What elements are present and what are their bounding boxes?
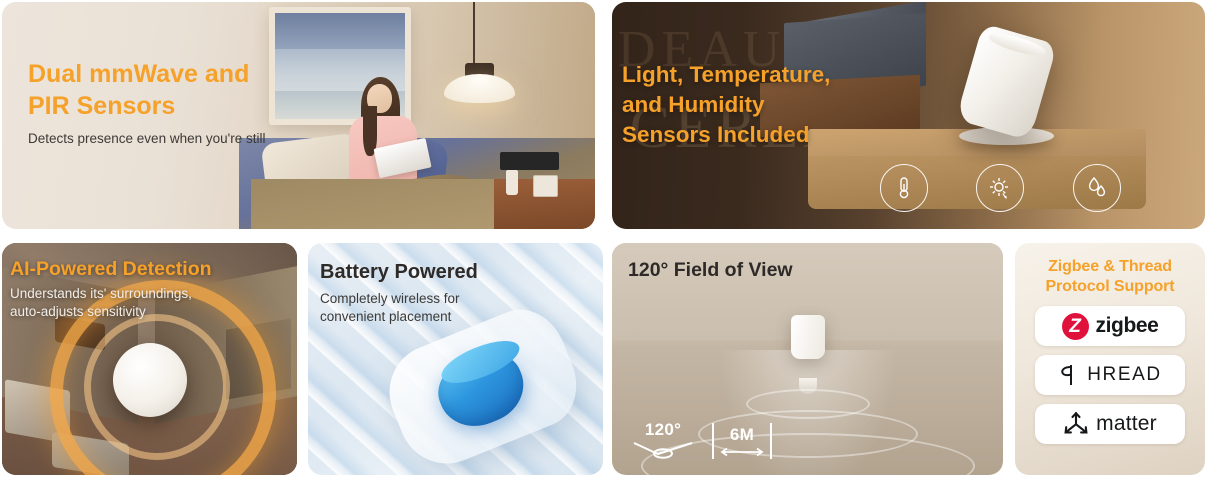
- protocol-title: Zigbee & Thread Protocol Support: [1045, 257, 1174, 296]
- tv-screen: [500, 152, 559, 170]
- light-sun-icon: [976, 164, 1024, 212]
- sensors-copy: Light, Temperature, and Humidity Sensors…: [622, 60, 830, 150]
- protocol-title-line2: Protocol Support: [1045, 277, 1174, 297]
- thread-logo-chip[interactable]: HREAD: [1035, 355, 1185, 395]
- battery-subtext-line2: convenient placement: [320, 308, 478, 326]
- sensor-icon-bar: [855, 165, 1146, 210]
- lamp-cord: [473, 2, 475, 68]
- zigbee-mark-letter: Z: [1069, 317, 1081, 336]
- sensor-device: [113, 343, 187, 417]
- zigbee-label: zigbee: [1096, 314, 1159, 338]
- ai-copy: AI-Powered Detection Understands its' su…: [10, 258, 212, 320]
- protocol-chip-list: Z zigbee HREAD: [1035, 306, 1185, 444]
- sensor-device: [956, 23, 1058, 140]
- battery-copy: Battery Powered Completely wireless for …: [320, 260, 478, 326]
- matter-label: matter: [1096, 412, 1157, 436]
- sensors-heading-line2: and Humidity: [622, 90, 830, 120]
- mmwave-subtext: Detects presence even when you're still: [28, 131, 265, 146]
- fov-badges: 120° 6M: [632, 421, 772, 459]
- zigbee-mark-icon: Z: [1062, 313, 1089, 340]
- thread-pin-icon: [1058, 363, 1080, 387]
- matter-arrows-icon: [1063, 411, 1089, 437]
- distance-badge: 6M: [712, 423, 772, 459]
- fov-copy: 120° Field of View: [628, 259, 793, 282]
- double-arrow-icon: [719, 447, 765, 457]
- zigbee-logo-chip[interactable]: Z zigbee: [1035, 306, 1185, 346]
- panel-protocol-support: Zigbee & Thread Protocol Support Z zigbe…: [1015, 243, 1205, 475]
- feature-grid: Dual mmWave and PIR Sensors Detects pres…: [0, 0, 1207, 477]
- humidity-droplet-icon: [1073, 164, 1121, 212]
- thread-label: HREAD: [1087, 364, 1162, 386]
- battery-subtext-line1: Completely wireless for: [320, 290, 478, 308]
- angle-badge: 120°: [632, 421, 694, 459]
- distance-value: 6M: [730, 426, 754, 443]
- mmwave-heading-line1: Dual mmWave and: [28, 58, 265, 90]
- window-blind: [275, 13, 405, 49]
- ai-subtext-line1: Understands its' surroundings,: [10, 285, 212, 303]
- ai-heading: AI-Powered Detection: [10, 258, 212, 281]
- clock: [533, 175, 559, 197]
- fov-heading: 120° Field of View: [628, 259, 793, 282]
- mmwave-heading-line2: PIR Sensors: [28, 90, 265, 122]
- protocol-title-line1: Zigbee & Thread: [1045, 257, 1174, 277]
- distance-measure: 6M: [719, 426, 765, 457]
- ceiling-sensor-device: [791, 315, 825, 359]
- sensors-heading-line1: Light, Temperature,: [622, 60, 830, 90]
- thermometer-icon: [880, 164, 928, 212]
- bottle: [506, 170, 518, 195]
- distance-bar-left: [712, 423, 714, 459]
- angle-arc-icon: [632, 441, 694, 459]
- matter-logo-chip[interactable]: matter: [1035, 404, 1185, 444]
- distance-bar-right: [770, 423, 772, 459]
- battery-heading: Battery Powered: [320, 260, 478, 284]
- angle-value: 120°: [645, 421, 681, 438]
- sensors-heading-line3: Sensors Included: [622, 120, 830, 150]
- mmwave-copy: Dual mmWave and PIR Sensors Detects pres…: [28, 58, 265, 146]
- ai-subtext-line2: auto-adjusts sensitivity: [10, 303, 212, 321]
